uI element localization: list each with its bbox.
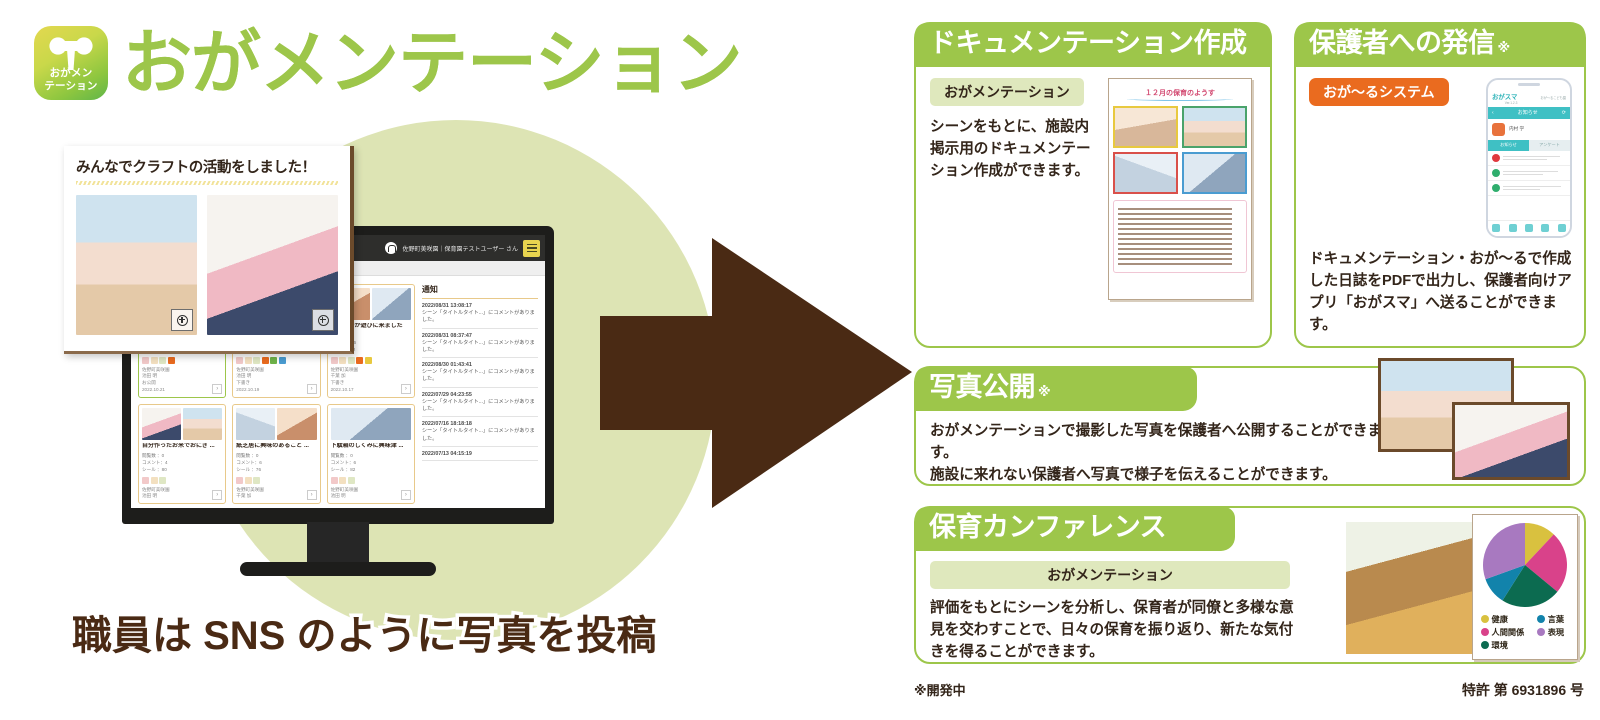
notification-text: シーン「タイトルタイト...」にコメントがありました。	[422, 340, 538, 355]
legend-label: 人間関係	[1492, 626, 1525, 638]
user-label: 佐野町美咲園｜保育園テストユーザー さん	[402, 244, 518, 253]
card-footer: 佐野町美咲園 池田 明 お公開 2022.10.21 ›	[142, 367, 222, 395]
card-footer-text: 佐野町美咲園 千葉 加 下書き 2022.10.17	[331, 367, 359, 395]
popup-photo	[76, 195, 197, 335]
news-icon[interactable]	[1509, 224, 1517, 232]
notification-time: 2022/07/16 18:18:18	[422, 421, 538, 427]
card-chips	[142, 477, 222, 484]
card-footer: 佐野町美咲園 池田 明 ›	[142, 487, 222, 501]
phone-list-item[interactable]	[1488, 181, 1570, 196]
brand-lockup: おがメン テーション おがメンテーション	[34, 26, 742, 100]
panel-body-text: 評価をもとにシーンを分析し、保育者が同僚と多様な意見を交わすことで、日々の保育を…	[930, 597, 1294, 664]
panel-title: 写真公開	[929, 371, 1035, 405]
notification-item[interactable]: 2022/07/29 04:23:55 シーン「タイトルタイト...」にコメント…	[422, 388, 538, 418]
card-status: お公開	[142, 380, 170, 387]
phone-tabs: お知らせ アンケート	[1488, 140, 1570, 151]
phone-user-row: 内村 学	[1488, 119, 1570, 140]
phone-item-text	[1503, 154, 1566, 161]
phone-user-name: 内村 学	[1509, 126, 1524, 132]
card-date: 2022.10.19	[236, 387, 264, 394]
panel-pill: おがメンテーション	[930, 561, 1290, 589]
notification-text: シーン「タイトルタイト...」にコメントがありました。	[422, 369, 538, 384]
legend-item-relations: 人間関係	[1481, 626, 1531, 638]
avatar	[1492, 123, 1505, 136]
card-next-button[interactable]: ›	[307, 490, 317, 500]
panel-asterisk: ※	[1498, 40, 1511, 56]
legend-swatch	[1537, 615, 1545, 623]
scene-card[interactable]: 自分作ったお米でおにぎ ... 閲覧数 ：0 コメント：4 シール ：80 佐野…	[138, 404, 226, 504]
documentation-preview: １２月の保育のようす	[1108, 78, 1252, 300]
panel-body: おがメンテーション シーンをもとに、施設内掲示用のドキュメンテーション作成ができ…	[916, 67, 1270, 300]
card-author: 池田 明	[331, 493, 359, 500]
notification-time: 2022/08/31 13:08:17	[422, 303, 538, 309]
legend-label: 健康	[1492, 613, 1508, 625]
bell-icon[interactable]	[385, 242, 397, 254]
magnifier-plus-icon[interactable]	[171, 309, 193, 331]
right-arrow-icon	[600, 238, 912, 508]
page-title: おがメンテーション	[122, 28, 742, 98]
app-logo-badge: おがメン テーション	[34, 26, 108, 100]
card-footer: 佐野町美咲園 池田 明 下書き 2022.10.19 ›	[236, 367, 316, 395]
notification-time: 2022/08/31 08:37:47	[422, 333, 538, 339]
card-next-button[interactable]: ›	[401, 490, 411, 500]
legend-item-health: 健康	[1481, 613, 1531, 625]
monitor-stand-base	[240, 562, 436, 576]
panel-title: 保育カンファレンス	[929, 511, 1166, 545]
home-icon[interactable]	[1492, 224, 1500, 232]
pie-chart	[1480, 523, 1570, 607]
card-footer-text: 佐野町美咲園 千葉 加	[236, 487, 264, 501]
popup-photo	[207, 195, 338, 335]
panel-title: 保護者への発信	[1309, 27, 1495, 61]
card-thumbnails	[236, 408, 316, 440]
card-date: 2022.10.17	[331, 387, 359, 394]
phone-notch	[1518, 83, 1540, 86]
phone-item-text	[1503, 184, 1566, 191]
panel-header: 保育カンファレンス	[915, 507, 1235, 551]
preview-title: １２月の保育のようす	[1113, 84, 1247, 101]
panel-body-line2: 施設に来れない保護者へ写真で様子を伝えることができます。	[930, 464, 1400, 486]
scene-card[interactable]: 下駄箱のしくみに興味津 ... 閲覧数 ：0 コメント：6 シール ：82 佐野…	[327, 404, 415, 504]
preview-text-block	[1113, 200, 1247, 273]
notification-item[interactable]: 2022/08/31 08:37:47 シーン「タイトルタイト...」にコメント…	[422, 329, 538, 359]
phone-list-item[interactable]	[1488, 151, 1570, 166]
conference-photo	[1346, 522, 1474, 654]
notification-item[interactable]: 2022/08/30 01:43:41 シーン「タイトルタイト...」にコメント…	[422, 358, 538, 388]
check-icon	[1492, 184, 1500, 192]
card-chips	[331, 477, 411, 484]
phone-nav-bar: ‹ お知らせ ⟳	[1488, 107, 1570, 119]
notifications-title: 通知	[422, 284, 538, 299]
card-meta: 閲覧数 ：0 コメント：6 シール ：76	[236, 452, 316, 473]
preview-photo	[1113, 106, 1178, 148]
card-thumbnails	[331, 408, 411, 440]
card-stickers: シール ：82	[331, 466, 411, 473]
card-footer: 佐野町美咲園 千葉 加 ›	[236, 487, 316, 501]
alert-icon	[1492, 154, 1500, 162]
card-next-button[interactable]: ›	[401, 384, 411, 394]
hamburger-menu-icon[interactable]	[523, 240, 540, 257]
phone-app-name: おがスマ	[1492, 92, 1517, 101]
legend-label: 表現	[1548, 626, 1564, 638]
phone-item-text	[1503, 169, 1566, 176]
chart-legend: 健康 言葉 人間関係 表現 環境	[1479, 613, 1571, 651]
panel-title: ドキュメンテーション作成	[929, 27, 1246, 61]
card-footer-text: 佐野町美咲園 池田 明 下書き 2022.10.19	[236, 367, 264, 395]
popup-title: みんなでクラフトの活動をしました！	[76, 156, 338, 177]
card-views: 閲覧数 ：0	[331, 452, 411, 459]
magnifier-plus-icon[interactable]	[312, 309, 334, 331]
tree-bone-icon	[49, 37, 93, 71]
panel-header: 保護者への発信 ※	[1295, 23, 1585, 67]
card-footer: 佐野町美咲園 千葉 加 下書き 2022.10.17 ›	[331, 367, 411, 395]
analysis-chart-card: 健康 言葉 人間関係 表現 環境	[1472, 514, 1578, 660]
card-views: 閲覧数 ：0	[236, 452, 316, 459]
popup-divider	[76, 181, 338, 185]
card-date: 2022.10.21	[142, 387, 170, 394]
card-meta: 閲覧数 ：0 コメント：4 シール ：80	[142, 452, 222, 473]
notification-time: 2022/07/13 04:15:19	[422, 451, 538, 457]
popup-photos	[76, 195, 338, 335]
left-caption: 職員は SNS のように写真を投稿	[72, 603, 656, 661]
panel-body: おがメンテーション 評価をもとにシーンを分析し、保育者が同僚と多様な意見を交わす…	[916, 551, 1308, 664]
phone-list-item[interactable]	[1488, 166, 1570, 181]
card-footer-text: 佐野町美咲園 池田 明 お公開 2022.10.21	[142, 367, 170, 395]
card-title: 下駄箱のしくみに興味津 ...	[331, 443, 411, 450]
preview-photo-grid	[1113, 106, 1247, 194]
card-author: 池田 明	[142, 493, 170, 500]
panel-header: 写真公開 ※	[915, 367, 1197, 411]
notification-item[interactable]: 2022/07/16 18:18:18 シーン「タイトルタイト...」にコメント…	[422, 417, 538, 447]
phone-tab-bar	[1488, 220, 1570, 236]
notification-item[interactable]: 2022/07/13 04:15:19	[422, 447, 538, 461]
panel-documentation: ドキュメンテーション作成 おがメンテーション シーンをもとに、施設内掲示用のドキ…	[914, 22, 1272, 348]
panel-body-text: ドキュメンテーション・おが〜るで作成した日誌をPDFで出力し、保護者向けアプリ「…	[1309, 248, 1572, 337]
panel-pill: おがメンテーション	[930, 78, 1084, 106]
card-status: 下書き	[236, 380, 264, 387]
card-chips	[142, 357, 222, 364]
card-chips	[331, 357, 411, 364]
notification-text: シーン「タイトルタイト...」にコメントがありました。	[422, 310, 538, 325]
notification-text: シーン「タイトルタイト...」にコメントがありました。	[422, 428, 538, 443]
notification-time: 2022/08/30 01:43:41	[422, 362, 538, 368]
legend-swatch	[1481, 628, 1489, 636]
phone-mockup: おがスマ Ver.1.2.3 おが〜るこども園 ‹ お知らせ ⟳ 内村 学	[1486, 78, 1572, 238]
phone-tab-news[interactable]: お知らせ	[1488, 140, 1529, 151]
panel-body: おが〜るシステム おがスマ Ver.1.2.3 おが〜るこども園 ‹ お知らせ	[1296, 67, 1584, 337]
legend-label: 環境	[1492, 639, 1508, 651]
published-photo	[1452, 402, 1570, 480]
card-status: 下書き	[331, 380, 359, 387]
card-title: 自分作ったお米でおにぎ ...	[142, 443, 222, 450]
notifications-panel: 通知 2022/08/31 13:08:17 シーン「タイトルタイト...」にコ…	[422, 284, 538, 504]
card-meta: 閲覧数 ：0 コメント：6 シール ：82	[331, 452, 411, 473]
preview-photo	[1182, 106, 1247, 148]
card-footer-text: 佐野町美咲園 池田 明	[142, 487, 170, 501]
legend-item-environment: 環境	[1481, 639, 1531, 651]
phone-app-header: おがスマ Ver.1.2.3 おが〜るこども園	[1488, 89, 1570, 107]
phone-app-sub: おが〜るこども園	[1541, 96, 1567, 100]
card-views: 閲覧数 ：0	[142, 452, 222, 459]
poster-canvas: おがメン テーション おがメンテーション 佐野町美咲園｜保育園テストユーザー さ…	[0, 0, 1600, 720]
panel-conference: 保育カンファレンス おがメンテーション 評価をもとにシーンを分析し、保育者が同僚…	[914, 506, 1586, 664]
card-footer-text: 佐野町美咲園 池田 明	[331, 487, 359, 501]
panel-body-text: シーンをもとに、施設内掲示用のドキュメンテーション作成ができます。	[930, 116, 1100, 183]
card-next-button[interactable]: ›	[212, 490, 222, 500]
scene-popup-card: みんなでクラフトの活動をしました！	[64, 146, 354, 354]
panel-photo-publishing: 写真公開 ※ おがメンテーションで撮影した写真を保護者へ公開することができます。…	[914, 366, 1586, 486]
card-next-button[interactable]: ›	[212, 384, 222, 394]
preview-photo	[1113, 152, 1178, 194]
phone-tab-survey[interactable]: アンケート	[1529, 140, 1570, 151]
legend-swatch	[1481, 641, 1489, 649]
refresh-icon[interactable]: ⟳	[1562, 110, 1566, 116]
scene-card[interactable]: 紙芝居に興味のあるこど ... 閲覧数 ：0 コメント：6 シール ：76 佐野…	[232, 404, 320, 504]
calendar-icon[interactable]	[1525, 224, 1533, 232]
notification-time: 2022/07/29 04:23:55	[422, 392, 538, 398]
card-stickers: シール ：80	[142, 466, 222, 473]
patent-number: 特許 第 6931896 号	[1462, 680, 1584, 700]
notification-item[interactable]: 2022/08/31 13:08:17 シーン「タイトルタイト...」にコメント…	[422, 299, 538, 329]
phone-app-version: Ver.1.2.3	[1492, 101, 1517, 105]
card-title: 紙芝居に興味のあるこど ...	[236, 443, 316, 450]
notification-text: シーン「タイトルタイト...」にコメントがありました。	[422, 399, 538, 414]
logo-text-line2: テーション	[34, 81, 108, 92]
logo-text-line1: おがメン	[34, 68, 108, 79]
legend-item-language: 言葉	[1537, 613, 1571, 625]
card-author: 千葉 加	[236, 493, 264, 500]
card-comments: コメント：6	[236, 459, 316, 466]
chevron-left-icon[interactable]: ‹	[1492, 110, 1494, 116]
legend-swatch	[1481, 615, 1489, 623]
legend-item-expression: 表現	[1537, 626, 1571, 638]
preview-photo	[1182, 152, 1247, 194]
panel-asterisk: ※	[1038, 384, 1051, 400]
panel-body-line1: おがメンテーションで撮影した写真を保護者へ公開することができます。	[930, 420, 1400, 464]
card-comments: コメント：6	[331, 459, 411, 466]
card-comments: コメント：4	[142, 459, 222, 466]
card-next-button[interactable]: ›	[307, 384, 317, 394]
phone-row: おが〜るシステム おがスマ Ver.1.2.3 おが〜るこども園 ‹ お知らせ	[1309, 78, 1572, 238]
card-chips	[236, 357, 316, 364]
card-stickers: シール ：76	[236, 466, 316, 473]
clock-icon[interactable]	[1541, 224, 1549, 232]
legend-label: 言葉	[1548, 613, 1564, 625]
panel-text-column: おがメンテーション シーンをもとに、施設内掲示用のドキュメンテーション作成ができ…	[930, 78, 1100, 300]
panel-pill: おが〜るシステム	[1309, 78, 1449, 106]
card-chips	[236, 477, 316, 484]
panel-parent-communication: 保護者への発信 ※ おが〜るシステム おがスマ Ver.1.2.3 おが〜るこど…	[1294, 22, 1586, 348]
phone-nav-title: お知らせ	[1518, 109, 1538, 116]
legend-swatch	[1537, 628, 1545, 636]
menu-icon[interactable]	[1558, 224, 1566, 232]
monitor-stand-neck	[307, 522, 369, 564]
card-thumbnails	[142, 408, 222, 440]
card-footer: 佐野町美咲園 池田 明 ›	[331, 487, 411, 501]
footnote: ※開発中	[914, 680, 966, 699]
check-icon	[1492, 169, 1500, 177]
panel-header: ドキュメンテーション作成	[915, 23, 1271, 67]
